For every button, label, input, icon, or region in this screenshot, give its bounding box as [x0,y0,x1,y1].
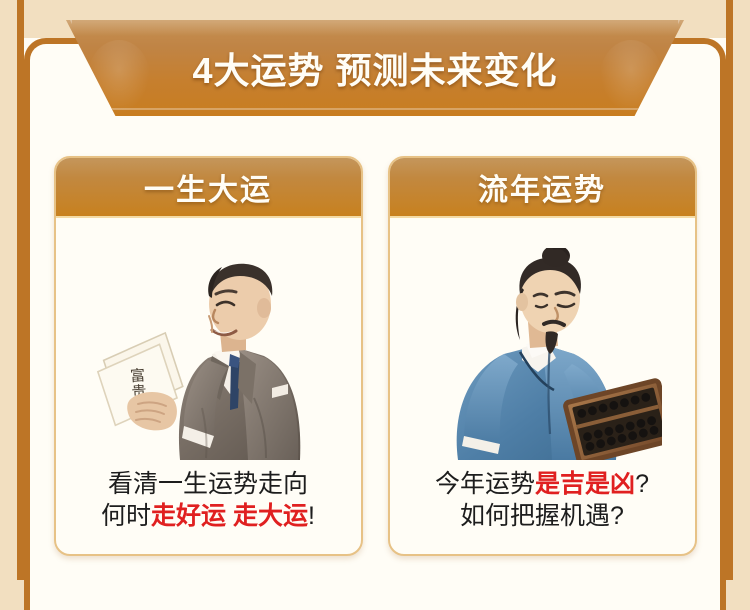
card-header-label: 流年运势 [478,165,606,209]
card-header-yishengdayun: 一生大运 [54,156,363,218]
caption-segment-highlight: 是吉是凶 [535,470,635,498]
card-list: 一生大运 [0,156,750,556]
caption-segment: ! [308,502,315,530]
caption-line: 如何把握机遇? [390,500,695,532]
card-caption-yishengdayun: 看清一生运势走向 何时走好运 走大运! [56,464,361,554]
caption-line: 看清一生运势走向 [56,468,361,500]
card-yishengdayun[interactable]: 一生大运 [54,156,363,556]
caption-segment-highlight: 走好运 走大运 [151,502,308,530]
caption-segment: 看清一生运势走向 [108,470,308,498]
caption-line: 今年运势是吉是凶? [390,468,695,500]
caption-line: 何时走好运 走大运! [56,500,361,532]
card-caption-liunianyunshi: 今年运势是吉是凶? 如何把握机遇? [390,464,695,554]
title-banner: 4大运势 预测未来变化 [0,16,750,116]
svg-text:富: 富 [130,366,146,385]
scholar-with-abacus-illustration [390,218,695,464]
businessman-reading-cards-illustration: 富 贵 [56,218,361,464]
promo-page: 4大运势 预测未来变化 一生大运 [0,0,750,580]
caption-segment: 今年运势 [435,470,535,498]
caption-segment: 何时 [101,502,151,530]
card-liunianyunshi[interactable]: 流年运势 [388,156,697,556]
caption-segment: ? [635,470,649,498]
page-title: 4大运势 预测未来变化 [0,20,750,116]
card-header-liunianyunshi: 流年运势 [388,156,697,218]
card-header-label: 一生大运 [144,165,272,209]
caption-segment: 如何把握机遇? [460,502,624,530]
